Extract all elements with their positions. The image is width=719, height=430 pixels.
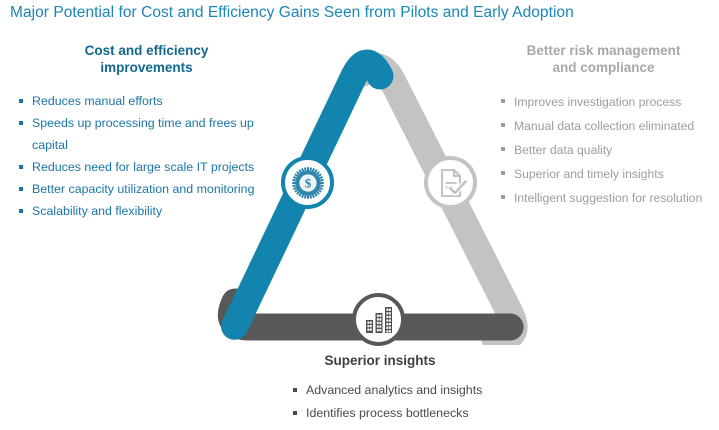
- list-item: Manual data collection eliminated: [500, 114, 711, 138]
- list-item: Better capacity utilization and monitori…: [18, 178, 279, 200]
- gear-dollar-icon-badge[interactable]: $: [281, 156, 334, 209]
- list-item: Speeds up processing time and frees up c…: [18, 112, 279, 156]
- bar-chart-icon-badge[interactable]: [352, 293, 405, 346]
- bar-chart-icon: [364, 305, 394, 335]
- risk-compliance-heading: Better risk management and compliance: [496, 42, 711, 76]
- list-item: Reduces manual efforts: [18, 90, 279, 112]
- gear-dollar-icon: $: [291, 166, 325, 200]
- superior-insights-heading: Superior insights: [230, 352, 530, 369]
- page-title: Major Potential for Cost and Efficiency …: [10, 4, 710, 22]
- list-item: Advanced analytics and insights: [292, 379, 530, 402]
- list-item: Superior and timely insights: [500, 162, 711, 186]
- document-check-icon: [435, 167, 467, 199]
- cost-efficiency-heading: Cost and efficiency improvements: [14, 42, 279, 76]
- list-item: Better data quality: [500, 138, 711, 162]
- svg-text:$: $: [304, 175, 311, 190]
- superior-insights-column: Superior insights Advanced analytics and…: [230, 352, 530, 425]
- cost-efficiency-column: Cost and efficiency improvements Reduces…: [14, 42, 279, 222]
- list-item: Scalability and flexibility: [18, 200, 279, 222]
- risk-compliance-list: Improves investigation process Manual da…: [496, 90, 711, 210]
- risk-compliance-column: Better risk management and compliance Im…: [496, 42, 711, 210]
- list-item: Identifies process bottlenecks: [292, 402, 530, 425]
- list-item: Intelligent suggestion for resolution: [500, 186, 711, 210]
- list-item: Reduces need for large scale IT projects: [18, 156, 279, 178]
- list-item: Improves investigation process: [500, 90, 711, 114]
- superior-insights-list: Advanced analytics and insights Identifi…: [230, 379, 530, 425]
- document-check-icon-badge[interactable]: [424, 156, 477, 209]
- cost-efficiency-list: Reduces manual efforts Speeds up process…: [14, 90, 279, 222]
